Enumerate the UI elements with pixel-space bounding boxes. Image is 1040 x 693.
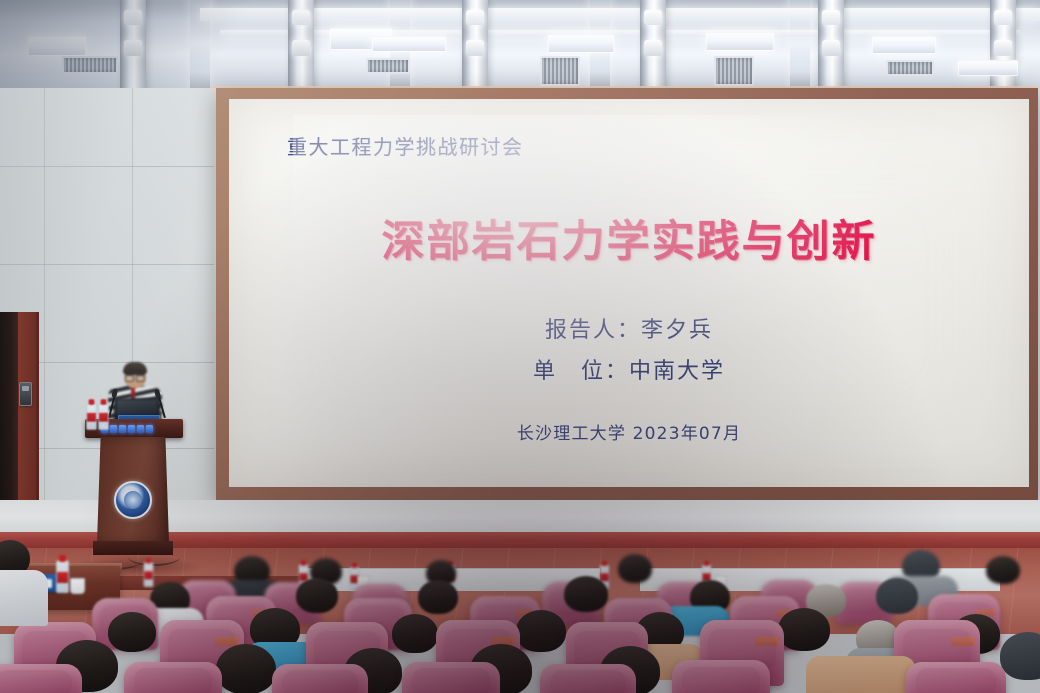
projection-screen: 重大工程力学挑战研讨会 深部岩石力学实践与创新 报告人：李夕兵 单 位：中南大学… — [229, 99, 1029, 487]
audience-head — [986, 556, 1020, 584]
audience-head — [216, 644, 276, 693]
audience-seat — [906, 662, 1006, 693]
ceiling-air-vent — [366, 58, 410, 74]
ceiling-light-panel — [706, 32, 774, 51]
audience-head — [876, 578, 918, 614]
audience-head — [516, 610, 566, 652]
audience-head — [296, 578, 338, 613]
university-emblem-icon — [114, 481, 152, 519]
audience-head — [108, 612, 156, 652]
wall-control-panel-icon[interactable] — [19, 382, 32, 406]
ceiling-light-panel — [958, 60, 1018, 76]
glasses-icon — [125, 374, 145, 380]
audience-seat — [0, 664, 82, 693]
audience-seating — [0, 536, 1040, 693]
slide-presenter-block: 报告人：李夕兵 单 位：中南大学 — [229, 311, 1029, 392]
ceiling-air-vent — [540, 56, 580, 86]
audience-head — [564, 576, 608, 612]
slide-main-title: 深部岩石力学实践与创新 — [229, 207, 1029, 269]
audience-seat — [124, 662, 222, 693]
ceiling-light-panel — [872, 36, 936, 54]
slide-affiliation: 单 位：中南大学 — [229, 352, 1029, 393]
ceiling-air-vent — [886, 60, 934, 76]
ceiling — [0, 0, 1040, 92]
slide-presenter-name: 报告人：李夕兵 — [229, 311, 1029, 352]
audience-seat — [672, 660, 770, 693]
ceiling-air-vent — [714, 56, 754, 86]
ceiling-light-panel — [548, 34, 614, 53]
audience-head — [392, 614, 438, 653]
audience-head — [1000, 632, 1040, 680]
slide-footer-venue-date: 长沙理工大学 2023年07月 — [229, 419, 1029, 444]
water-bottle — [98, 403, 108, 429]
audience-head — [778, 608, 830, 651]
ceiling-light-panel — [372, 36, 446, 52]
audience-seat — [402, 662, 500, 693]
audience-seat — [272, 664, 368, 693]
audience-head — [418, 580, 458, 614]
audience-head — [618, 554, 652, 583]
projection-screen-frame: 重大工程力学挑战研讨会 深部岩石力学实践与创新 报告人：李夕兵 单 位：中南大学… — [216, 88, 1038, 500]
podium-body — [97, 437, 169, 543]
audience-seat — [540, 664, 636, 693]
slide-event-subtitle: 重大工程力学挑战研讨会 — [287, 131, 524, 160]
water-bottle — [86, 403, 96, 429]
side-door[interactable] — [0, 312, 39, 520]
conference-hall-photo: 重大工程力学挑战研讨会 深部岩石力学实践与创新 报告人：李夕兵 单 位：中南大学… — [0, 0, 1040, 693]
